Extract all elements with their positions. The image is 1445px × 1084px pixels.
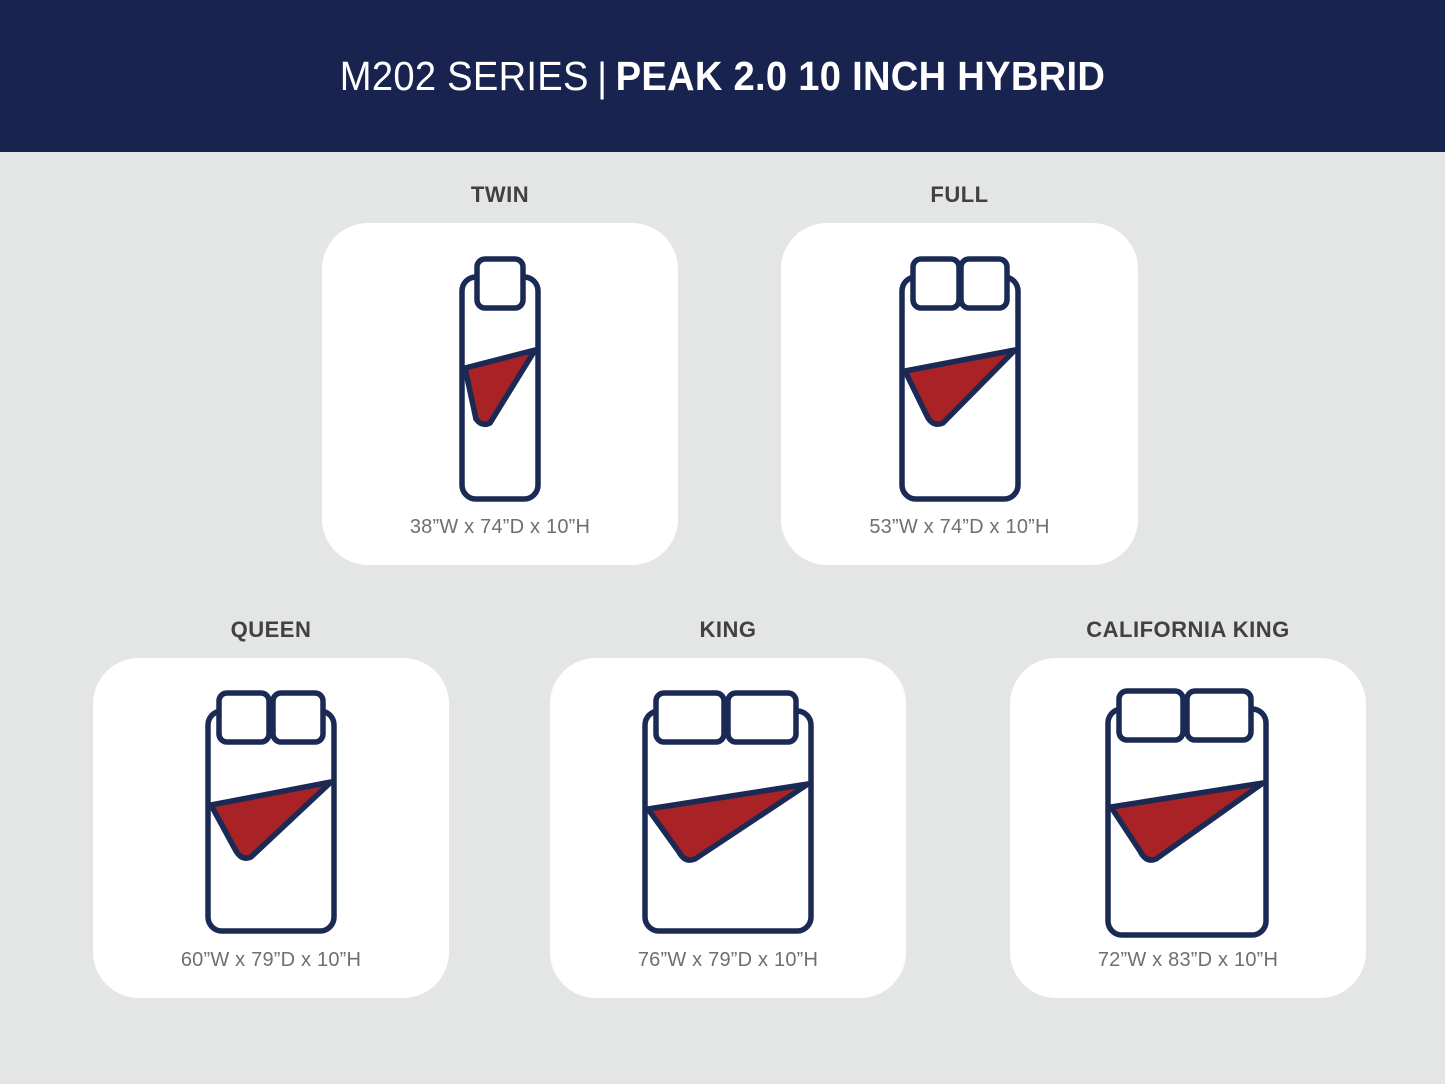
bed-illustration-wrap-queen [93, 658, 449, 949]
bed-king-icon [603, 681, 853, 939]
size-label-full: FULL [781, 182, 1138, 208]
page-title: M202 SERIES|PEAK 2.0 10 INCH HYBRID [340, 53, 1105, 100]
pillow-1 [656, 693, 724, 742]
dimensions-full: 53”W x 74”D x 10”H [781, 516, 1138, 565]
pillow-1 [1119, 691, 1183, 740]
bed-full-icon [860, 247, 1060, 507]
dimensions-king: 76”W x 79”D x 10”H [550, 949, 906, 998]
size-block-queen: QUEEN 60”W x 79”D x 10”H [93, 617, 449, 998]
size-block-king: KING 76”W x 79”D x 10”H [550, 617, 906, 998]
dimensions-twin: 38”W x 74”D x 10”H [322, 516, 678, 565]
bed-illustration-wrap-king [550, 658, 906, 949]
bed-california-king-icon [1066, 679, 1311, 941]
size-label-twin: TWIN [322, 182, 678, 208]
bed-illustration-wrap-california-king [1010, 658, 1366, 949]
size-card-california-king[interactable]: 72”W x 83”D x 10”H [1010, 658, 1366, 998]
size-card-king[interactable]: 76”W x 79”D x 10”H [550, 658, 906, 998]
bed-illustration-wrap-full [781, 223, 1138, 516]
header-bar: M202 SERIES|PEAK 2.0 10 INCH HYBRID [0, 0, 1445, 152]
bed-twin-icon [420, 247, 580, 507]
size-grid: TWIN 38”W x 74”D x 10”H FULL [0, 152, 1445, 1084]
size-block-full: FULL 53”W x 74”D x 10”H [781, 182, 1138, 565]
model-label: PEAK 2.0 10 INCH HYBRID [616, 53, 1106, 99]
pillow-2 [961, 259, 1007, 308]
size-block-california-king: CALIFORNIA KING 72”W x 83”D x 10”H [1010, 617, 1366, 998]
dimensions-queen: 60”W x 79”D x 10”H [93, 949, 449, 998]
pillow-2 [1187, 691, 1251, 740]
title-separator: | [589, 54, 616, 100]
size-label-king: KING [550, 617, 906, 643]
pillow-2 [273, 693, 323, 742]
pillow-1 [219, 693, 269, 742]
dimensions-california-king: 72”W x 83”D x 10”H [1010, 949, 1366, 998]
series-label: M202 SERIES [340, 53, 589, 99]
pillow-2 [728, 693, 796, 742]
bed-queen-icon [166, 681, 376, 939]
size-label-california-king: CALIFORNIA KING [1010, 617, 1366, 643]
pillow-1 [477, 259, 523, 308]
size-card-twin[interactable]: 38”W x 74”D x 10”H [322, 223, 678, 565]
bed-illustration-wrap-twin [322, 223, 678, 516]
size-card-full[interactable]: 53”W x 74”D x 10”H [781, 223, 1138, 565]
size-block-twin: TWIN 38”W x 74”D x 10”H [322, 182, 678, 565]
size-label-queen: QUEEN [93, 617, 449, 643]
size-card-queen[interactable]: 60”W x 79”D x 10”H [93, 658, 449, 998]
pillow-1 [913, 259, 959, 308]
